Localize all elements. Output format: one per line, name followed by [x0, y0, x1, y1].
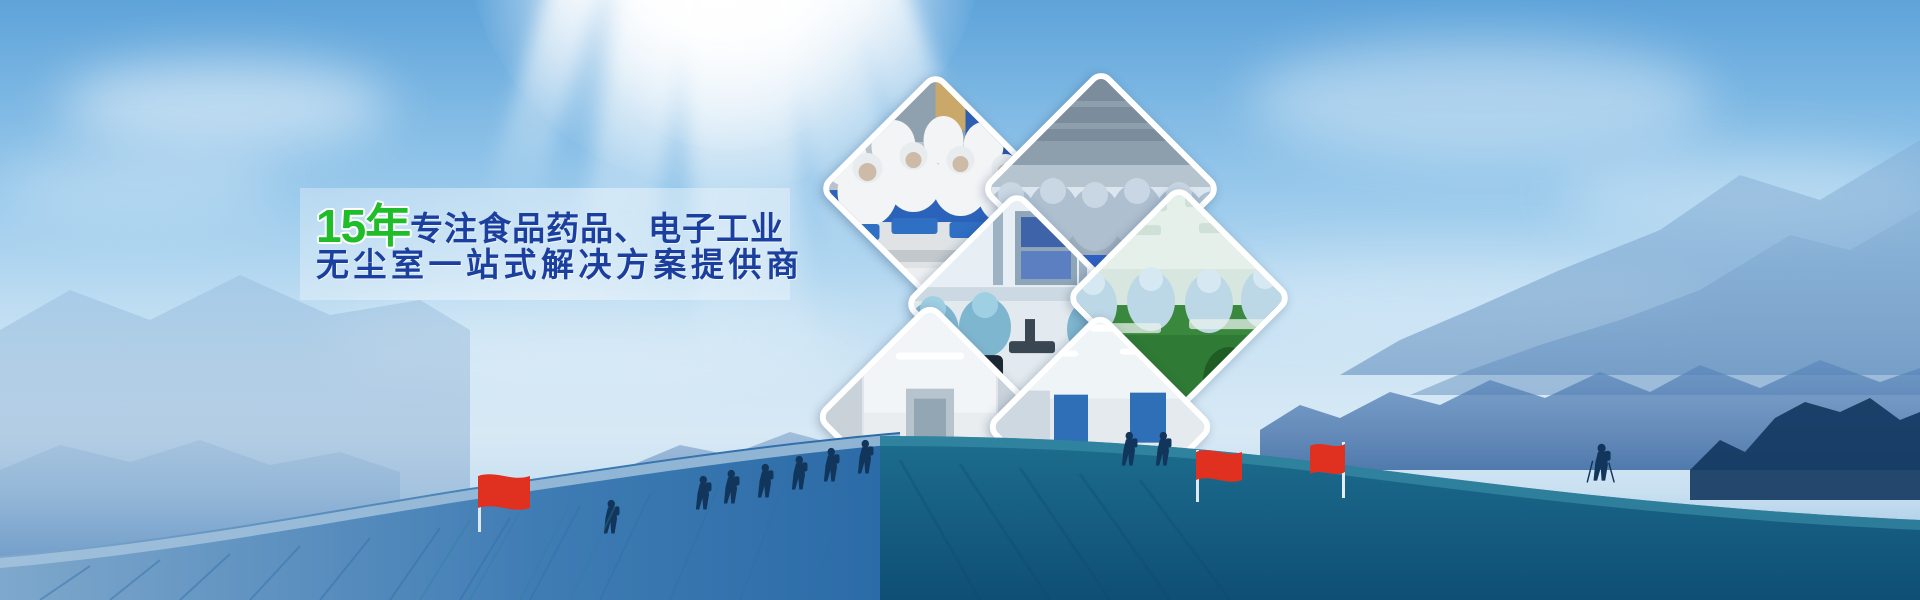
years-badge: 15年	[316, 200, 410, 252]
headline: 15年专注食品药品、电子工业 无尘室一站式解决方案提供商	[316, 200, 876, 292]
hero-banner: 15年专注食品药品、电子工业 无尘室一站式解决方案提供商	[0, 0, 1920, 600]
headline-line-2: 无尘室一站式解决方案提供商	[316, 246, 876, 292]
headline-line-1: 15年专注食品药品、电子工业	[316, 200, 876, 246]
headline-line-2-text: 无尘室一站式解决方案提供商	[316, 246, 804, 283]
headline-line-1-text: 专注食品药品、电子工业	[410, 210, 784, 247]
snow-ridge	[0, 370, 1920, 600]
